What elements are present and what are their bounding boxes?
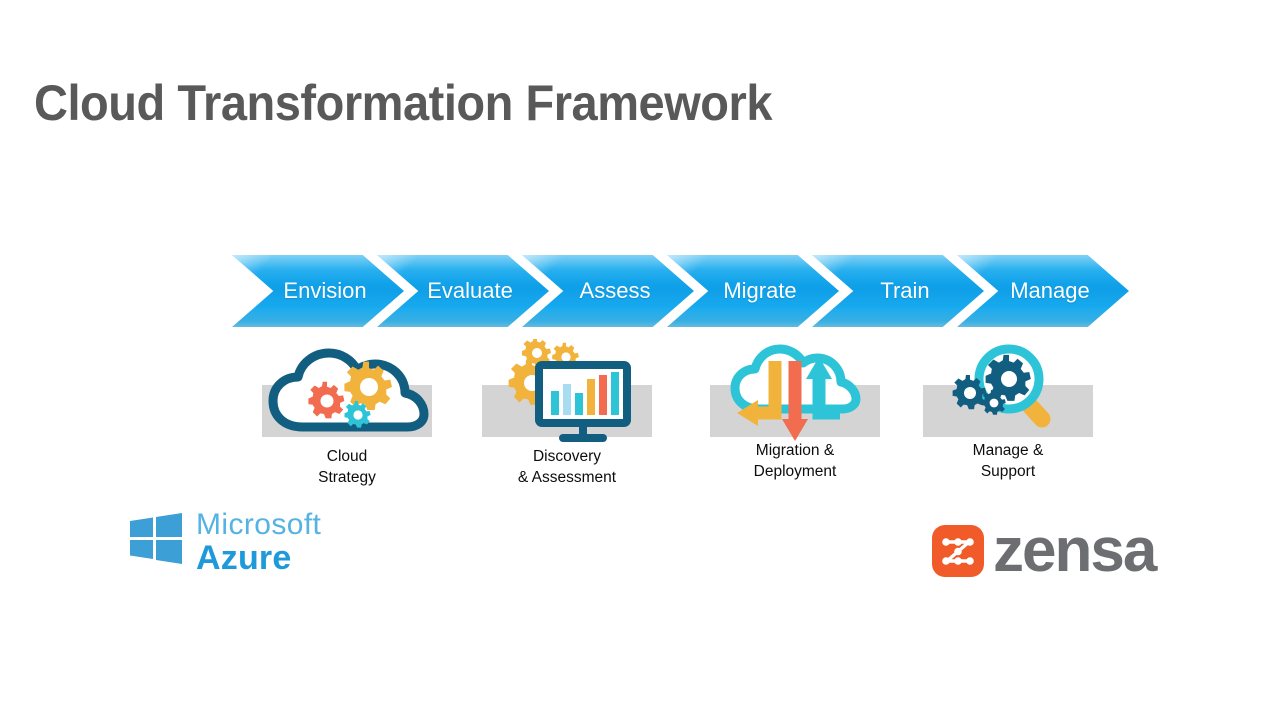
microsoft-azure-logo: Microsoft Azure — [128, 508, 328, 578]
capability-label: Discovery & Assessment — [467, 446, 667, 488]
monitor-bar-chart-gears-icon — [467, 340, 667, 445]
zensa-z-mark-icon — [932, 525, 984, 577]
process-step-label: Migrate — [723, 278, 796, 304]
zensa-logo: zensa — [932, 518, 1182, 584]
azure-wordmark: Microsoft Azure — [196, 510, 321, 575]
process-flow: Envision Evaluate Assess Migrate Train M… — [232, 255, 1122, 327]
process-step-label: Train — [880, 278, 929, 304]
capability-label-line2: Deployment — [695, 461, 895, 482]
capability-label-line2: & Assessment — [467, 467, 667, 488]
capability-label-line1: Cloud — [247, 446, 447, 467]
page-title: Cloud Transformation Framework — [34, 74, 772, 132]
process-step-label: Assess — [580, 278, 651, 304]
capability-label-line2: Support — [908, 461, 1108, 482]
zensa-wordmark: zensa — [993, 524, 1155, 579]
azure-wordmark-azure: Azure — [196, 541, 321, 575]
cloud-gears-icon — [247, 340, 447, 445]
azure-wordmark-microsoft: Microsoft — [196, 510, 321, 540]
process-step-envision[interactable]: Envision — [232, 255, 404, 327]
capability-label: Cloud Strategy — [247, 446, 447, 488]
capability-label: Manage & Support — [908, 440, 1108, 482]
capability-label-line2: Strategy — [247, 467, 447, 488]
capability-label-line1: Migration & — [695, 440, 895, 461]
magnifier-gears-icon — [908, 340, 1108, 445]
cloud-migration-arrows-icon — [695, 340, 895, 445]
capability-label: Migration & Deployment — [695, 440, 895, 482]
capability-label-line1: Discovery — [467, 446, 667, 467]
capability-label-line1: Manage & — [908, 440, 1108, 461]
windows-flag-icon — [128, 512, 184, 571]
process-step-label: Envision — [283, 278, 366, 304]
slide-canvas: Cloud Transformation Framework Envision … — [0, 0, 1280, 720]
process-step-label: Evaluate — [427, 278, 513, 304]
process-step-label: Manage — [1010, 278, 1090, 304]
